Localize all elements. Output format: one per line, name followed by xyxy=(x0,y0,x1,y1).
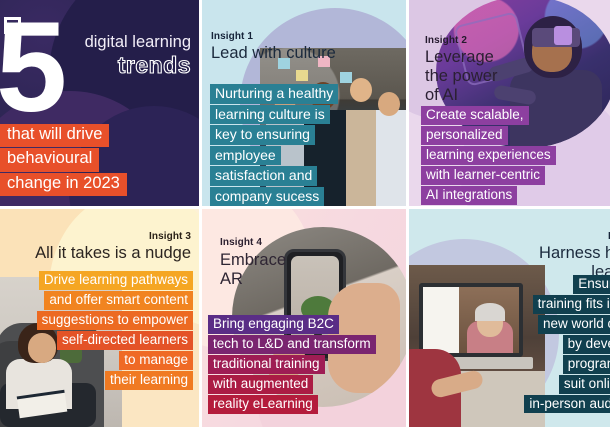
insight-3-highlight-line: self-directed learners xyxy=(57,331,193,350)
insight-1-headline: Lead with culture xyxy=(211,44,336,63)
person-body xyxy=(376,110,406,206)
person-head xyxy=(378,92,400,116)
person-body xyxy=(346,110,380,206)
insight-2-eyebrow: Insight 2 xyxy=(425,35,497,46)
insight-1-highlight-line: company sucess xyxy=(210,187,324,206)
insight-4-eyebrow: Insight 4 xyxy=(220,237,286,248)
insight-3-headline: All it takes is a nudge xyxy=(35,244,191,263)
insight-3-title-block: Insight 3 All it takes is a nudge xyxy=(35,231,191,263)
insight-4-highlight-line: Bring engaging B2C xyxy=(208,315,339,334)
hero-subtitle-line2: trends xyxy=(118,52,191,79)
insight-3-eyebrow: Insight 3 xyxy=(35,231,191,242)
insight-1-highlight-line: Nurturing a healthy xyxy=(210,84,338,104)
insight-5-eyebrow: Insight 5 xyxy=(410,231,610,242)
hero-highlight-line: behavioural xyxy=(0,148,99,171)
insight-5-highlight-line: by developing xyxy=(563,335,610,354)
insight-2-panel: Insight 2 Leverage the power of AI Creat… xyxy=(409,0,610,206)
insight-5-highlight-line: Ensure your xyxy=(573,275,610,294)
insight-2-highlight-line: with learner-centric xyxy=(421,166,545,185)
insight-3-highlight-line: to manage xyxy=(119,351,193,370)
insight-2-highlight-line: AI integrations xyxy=(421,186,517,205)
insight-4-panel: Insight 4 Embrace AR Bring engaging B2C … xyxy=(202,209,406,427)
laptop-screen xyxy=(419,283,523,357)
insight-4-headline: Embrace AR xyxy=(220,251,286,289)
insight-1-highlight-block: Nurturing a healthy learning culture is … xyxy=(210,84,338,206)
insight-2-highlight-line: personalized xyxy=(421,126,508,145)
insight-4-highlight-line: tech to L&D and transform xyxy=(208,335,376,354)
hero-panel: 5 digital learning trends that will driv… xyxy=(0,0,199,206)
insight-3-highlight-line: suggestions to empower xyxy=(37,311,193,330)
hero-highlight-line: change in 2023 xyxy=(0,173,127,196)
insight-5-title-block: Insight 5 Harness hybrid learning xyxy=(410,231,610,282)
hero-subtitle-line1: digital learning xyxy=(85,33,191,51)
insight-3-highlight-line: and offer smart content xyxy=(44,291,193,310)
sticky-note xyxy=(296,70,308,81)
insight-4-highlight-line: reality eLearning xyxy=(208,395,318,414)
person-head xyxy=(350,78,372,102)
insight-4-title-block: Insight 4 Embrace AR xyxy=(220,237,286,289)
insight-5-highlight-line: training fits into the xyxy=(533,295,610,314)
insight-3-highlight-block: Drive learning pathways and offer smart … xyxy=(37,271,193,391)
insight-1-highlight-line: key to ensuring xyxy=(210,125,315,145)
insight-5-panel: Insight 5 Harness hybrid learning Ensure… xyxy=(409,209,610,427)
insight-2-highlight-block: Create scalable, personalized learning e… xyxy=(421,106,556,206)
hero-highlight-block: that will drive behavioural change in 20… xyxy=(0,124,127,197)
insight-5-highlight-line: in-person audiences xyxy=(524,395,610,414)
insight-4-highlight-block: Bring engaging B2C tech to L&D and trans… xyxy=(208,315,376,415)
insight-2-title-block: Insight 2 Leverage the power of AI xyxy=(425,35,497,104)
insight-4-highlight-line: traditional training xyxy=(208,355,325,374)
hero-highlight-line: that will drive xyxy=(0,124,109,147)
instructor-hair xyxy=(475,303,505,321)
hero-number: 5 xyxy=(0,18,61,118)
insight-2-highlight-line: learning experiences xyxy=(421,146,556,165)
vr-lens xyxy=(554,26,572,45)
insight-5-highlight-block: Ensure your training fits into the new w… xyxy=(524,275,610,414)
insight-5-highlight-line: suit online and xyxy=(559,375,610,394)
insight-1-title-block: Insight 1 Lead with culture xyxy=(211,31,336,63)
insight-3-panel: Insight 3 All it takes is a nudge Drive … xyxy=(0,209,199,427)
infographic-board: 5 digital learning trends that will driv… xyxy=(0,0,610,427)
insight-1-highlight-line: employee xyxy=(210,146,281,166)
sticky-note xyxy=(340,72,352,83)
insight-1-highlight-line: satisfaction and xyxy=(210,166,317,186)
insight-5-highlight-line: programs that xyxy=(563,355,610,374)
insight-1-panel: Insight 1 Lead with culture Nurturing a … xyxy=(202,0,406,206)
insight-3-highlight-line: their learning xyxy=(105,371,193,390)
insight-3-highlight-line: Drive learning pathways xyxy=(39,271,193,290)
insight-1-eyebrow: Insight 1 xyxy=(211,31,336,42)
insight-2-headline: Leverage the power of AI xyxy=(425,48,497,104)
insight-5-highlight-line: new world of work xyxy=(538,315,610,334)
insight-2-highlight-line: Create scalable, xyxy=(421,106,529,125)
insight-4-highlight-line: with augmented xyxy=(208,375,313,394)
insight-1-highlight-line: learning culture is xyxy=(210,105,330,125)
